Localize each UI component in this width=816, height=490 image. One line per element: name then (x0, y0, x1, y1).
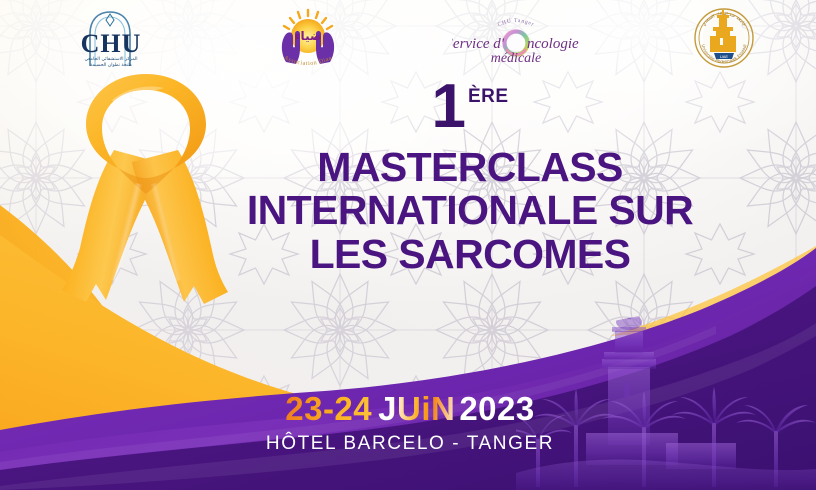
svg-text:UAE: UAE (720, 54, 729, 59)
title-line-1: MASTERCLASS (190, 146, 750, 189)
event-month: JUiN (378, 390, 455, 427)
event-year: 2023 (459, 390, 534, 427)
svg-text:CHU: CHU (81, 29, 142, 58)
association-diaa-logo: ضياء Association Diaa (272, 4, 344, 70)
title-line-3: LES SARCOMES (190, 233, 750, 276)
svg-text:Service d': Service d' (452, 36, 505, 52)
svg-text:médicale: médicale (491, 51, 542, 66)
title-line-2: INTERNATIONALE SUR (190, 189, 750, 232)
svg-text:المركز الاستشفائي الجامعي: المركز الاستشفائي الجامعي (84, 56, 137, 62)
event-poster: CHU المركز الاستشفائي الجامعي طنجة تطوان… (0, 0, 816, 490)
event-date: 23-24JUiN2023 (150, 392, 670, 427)
svg-text:ncologie: ncologie (527, 36, 579, 52)
svg-text:ضياء: ضياء (294, 29, 321, 43)
edition-number: 1 (431, 78, 464, 137)
edition-ordinal: 1 ÈRE (190, 78, 750, 140)
logo-bar: CHU المركز الاستشفائي الجامعي طنجة تطوان… (0, 0, 816, 78)
event-venue: HÔTEL BARCELO - TANGER (150, 433, 670, 455)
page-title: MASTERCLASS INTERNATIONALE SUR LES SARCO… (190, 146, 750, 276)
svg-text:CHU Tanger: CHU Tanger (497, 18, 535, 28)
event-days: 23-24 (285, 390, 372, 427)
service-oncologie-medicale-logo: CHU Tanger Service d' ncologie médicale (452, 12, 580, 66)
chu-tanger-logo: CHU المركز الاستشفائي الجامعي طنجة تطوان… (70, 8, 152, 70)
svg-text:طنجة تطوان الحسيمة: طنجة تطوان الحسيمة (90, 63, 132, 68)
title-block: 1 ÈRE MASTERCLASS INTERNATIONALE SUR LES… (190, 78, 750, 304)
date-venue-block: 23-24JUiN2023 HÔTEL BARCELO - TANGER (150, 392, 670, 455)
universite-abdelmalek-essaadi-logo: جامعة عبد المالك السعدي Universite Abdel… (688, 6, 760, 70)
edition-suffix: ÈRE (468, 86, 509, 108)
